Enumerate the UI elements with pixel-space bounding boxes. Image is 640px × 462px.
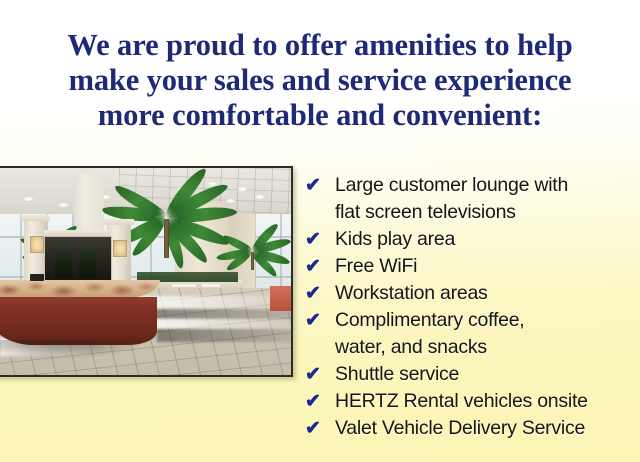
check-icon: ✔: [305, 226, 327, 253]
check-icon: ✔: [305, 172, 327, 199]
list-item-label: Valet Vehicle Delivery Service: [335, 415, 640, 442]
page-title-line-2: make your sales and service experience: [0, 63, 640, 98]
photo-floor-highlight: [148, 319, 291, 329]
photo-pillar-cap: [104, 219, 134, 225]
photo-desk-shadow: [0, 340, 148, 361]
list-item: ✔ HERTZ Rental vehicles onsite: [305, 388, 640, 415]
list-item-label-cont: water, and snacks: [335, 334, 640, 361]
list-item-label-cont: flat screen televisions: [335, 199, 640, 226]
check-icon: ✔: [305, 415, 327, 442]
check-icon: ✔: [305, 361, 327, 388]
lobby-photo-image: [0, 168, 291, 375]
check-icon: ✔: [305, 307, 327, 334]
photo-planter-plaque: [172, 284, 196, 287]
photo-desk-counter: [0, 280, 160, 299]
photo-desk-base: [0, 297, 157, 345]
photo-downlight: [238, 187, 247, 191]
check-icon: ✔: [305, 253, 327, 280]
photo-floor-highlight: [137, 296, 291, 308]
list-item: ✔ Kids play area: [305, 226, 640, 253]
page-title-line-1: We are proud to offer amenities to help: [0, 28, 640, 63]
list-item: ✔ Valet Vehicle Delivery Service: [305, 415, 640, 442]
list-item: ✔ Free WiFi: [305, 253, 640, 280]
list-item: ✔ Workstation areas: [305, 280, 640, 307]
amenities-list: ✔ Large customer lounge with flat screen…: [305, 172, 640, 442]
list-item-label: Free WiFi: [335, 253, 640, 280]
slide-canvas: We are proud to offer amenities to help …: [0, 0, 640, 462]
photo-planter-plaque: [202, 284, 220, 287]
list-item-label: Shuttle service: [335, 361, 640, 388]
page-title-line-3: more comfortable and convenient:: [0, 98, 640, 133]
photo-wall-sconce: [30, 236, 44, 252]
check-icon: ✔: [305, 280, 327, 307]
lobby-photo: [0, 166, 293, 377]
list-item: ✔ Large customer lounge with flat screen…: [305, 172, 640, 226]
list-item-label: HERTZ Rental vehicles onsite: [335, 388, 640, 415]
list-item-label: Workstation areas: [335, 280, 640, 307]
photo-downlight: [24, 197, 33, 201]
photo-floor-shadow: [157, 329, 291, 341]
photo-display-case: [44, 236, 111, 284]
list-item-label: Complimentary coffee,: [335, 307, 640, 334]
photo-desk-item: [30, 274, 45, 281]
check-icon: ✔: [305, 388, 327, 415]
list-item-label: Kids play area: [335, 226, 640, 253]
page-title: We are proud to offer amenities to help …: [0, 28, 640, 133]
photo-wall-sconce: [113, 240, 127, 256]
list-item-label: Large customer lounge with: [335, 172, 640, 199]
list-item: ✔ Shuttle service: [305, 361, 640, 388]
photo-pillar-cap: [21, 215, 51, 221]
list-item: ✔ Complimentary coffee, water, and snack…: [305, 307, 640, 361]
photo-accent-panel: [270, 286, 291, 311]
